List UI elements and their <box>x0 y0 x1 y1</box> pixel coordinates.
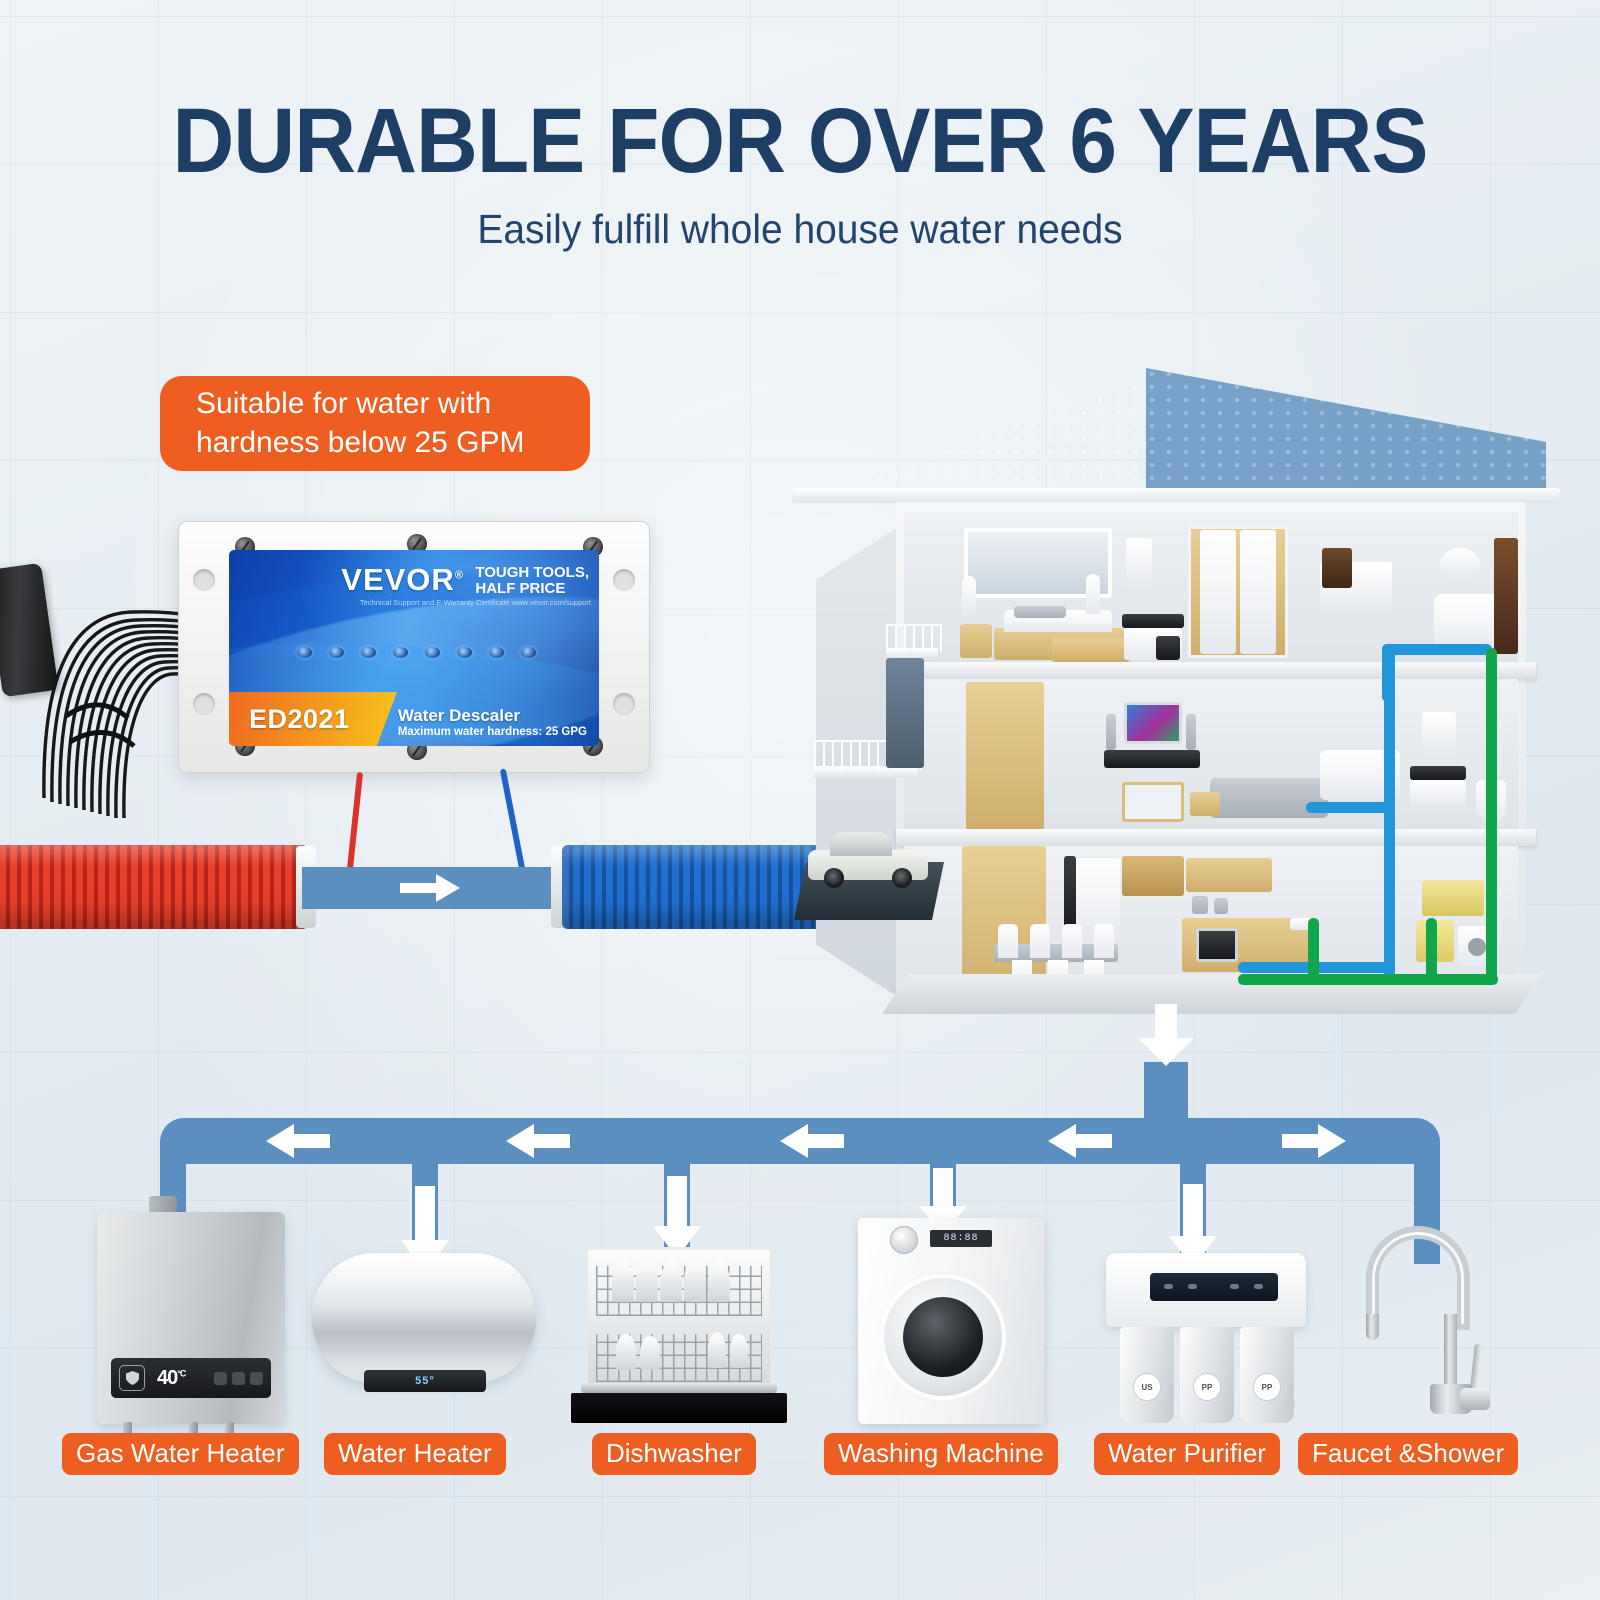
drain-riser <box>1486 648 1497 984</box>
label-faucet-shower: Faucet &Shower <box>1298 1433 1518 1475</box>
flow-arrow-right-icon <box>400 874 460 902</box>
shield-icon <box>119 1365 145 1391</box>
flow-arrow-left-icon <box>780 1124 844 1158</box>
car <box>808 830 928 892</box>
television <box>1124 702 1182 744</box>
label-water-purifier: Water Purifier <box>1094 1433 1280 1475</box>
lamp <box>1086 574 1100 614</box>
oven <box>1196 928 1238 962</box>
appliance-gas-water-heater: 40°C <box>97 1212 285 1424</box>
status-dot <box>1254 1284 1263 1289</box>
upper-cabinet <box>1186 858 1272 892</box>
brand-row: VEVOR® TOUGH TOOLS,HALF PRICE <box>341 562 589 598</box>
balcony-upper-rail <box>886 624 942 652</box>
dishwasher-handle[interactable] <box>581 1383 777 1393</box>
plate <box>708 1262 730 1302</box>
led-indicator <box>361 647 376 658</box>
cold-water-riser <box>1384 644 1395 984</box>
dining-chair <box>1094 924 1114 958</box>
purifier-display <box>1150 1273 1278 1301</box>
laundry-cabinet <box>1422 880 1484 916</box>
led-indicator <box>393 647 408 658</box>
coffee-table <box>1190 792 1220 816</box>
red-wire <box>347 772 363 870</box>
inlet-hose-red <box>0 845 308 929</box>
speaker <box>1186 714 1196 750</box>
faucet-knob[interactable] <box>1460 1388 1490 1410</box>
brand-tagline: TOUGH TOOLS,HALF PRICE <box>475 562 589 597</box>
plate <box>640 1336 660 1370</box>
roof-eave <box>792 488 1560 503</box>
status-dot <box>1230 1284 1239 1289</box>
mount-hole <box>193 569 215 591</box>
appliance-faucet <box>1348 1218 1498 1424</box>
tank-body <box>312 1253 536 1383</box>
lamp <box>962 576 976 616</box>
appliance-water-heater: 55° <box>312 1253 536 1383</box>
product-name: Water Descaler <box>398 706 587 726</box>
pillow <box>1014 606 1066 618</box>
faucet-highlight <box>1372 1232 1464 1324</box>
appliance-dishwasher <box>571 1247 787 1423</box>
toilet-roll <box>1440 548 1480 580</box>
pot <box>1192 896 1208 914</box>
plate <box>660 1262 682 1302</box>
dishwasher-door[interactable] <box>571 1393 787 1423</box>
drain-pipe <box>1426 918 1437 984</box>
washer-door[interactable] <box>880 1274 1006 1400</box>
product-spec: Maximum water hardness: 25 GPG <box>398 726 587 740</box>
label-gas-water-heater: Gas Water Heater <box>62 1433 299 1475</box>
plate <box>708 1332 726 1368</box>
mount-hole <box>613 693 635 715</box>
plate <box>730 1334 748 1368</box>
page-subtitle: Easily fulfill whole house water needs <box>40 206 1560 253</box>
page-title: DURABLE FOR OVER 6 YEARS <box>56 96 1544 186</box>
faucet-spout <box>1366 1314 1379 1340</box>
car-wheel <box>824 868 844 888</box>
dining-chair <box>1030 924 1050 958</box>
outlet-hose-blue <box>562 845 824 929</box>
mount-hole <box>193 693 215 715</box>
device-faceplate: VEVOR® TOUGH TOOLS,HALF PRICE Technical … <box>229 550 599 746</box>
main-supply-drop <box>1144 1062 1188 1120</box>
power-button[interactable] <box>250 1372 263 1385</box>
flow-arrow-left-icon <box>506 1124 570 1158</box>
chest <box>960 624 992 658</box>
blue-wire <box>500 768 526 875</box>
flow-arrow-left-icon <box>1048 1124 1112 1158</box>
dishwasher-tub <box>585 1247 773 1387</box>
stone-facade <box>886 658 924 768</box>
tank-control-panel: 55° <box>364 1370 486 1392</box>
appliance-washing-machine: 88:88 <box>858 1218 1044 1424</box>
car-roof <box>830 832 892 856</box>
cold-water-pipe <box>1382 644 1492 655</box>
washer-control-panel[interactable]: 88:88 <box>864 1224 1038 1254</box>
dining-chair <box>998 924 1018 958</box>
warranty-fine-print: Technical Support and E-Warranty Certifi… <box>360 598 591 607</box>
gas-heater-temperature: 40°C <box>157 1367 185 1390</box>
tile-accent <box>1322 548 1352 588</box>
led-indicator <box>457 647 472 658</box>
flow-arrow-down-icon <box>1138 1004 1194 1066</box>
tv-console <box>1104 750 1200 768</box>
washer-drum <box>903 1297 983 1377</box>
pot <box>1214 898 1228 914</box>
vevor-logo: VEVOR® <box>341 562 464 598</box>
mount-hole <box>613 569 635 591</box>
status-dot <box>1188 1284 1197 1289</box>
plate <box>684 1260 706 1302</box>
mirror <box>1422 712 1456 756</box>
label-water-heater: Water Heater <box>324 1433 506 1475</box>
label-dishwasher: Dishwasher <box>592 1433 756 1475</box>
status-dot <box>1164 1284 1173 1289</box>
gas-heater-buttons[interactable] <box>214 1372 263 1385</box>
plate <box>616 1334 636 1370</box>
purifier-head-unit <box>1106 1253 1306 1327</box>
flow-arrow-down-icon <box>653 1176 701 1258</box>
vanity-counter <box>1410 766 1466 780</box>
car-wheel <box>892 868 912 888</box>
vanity-cabinet <box>1410 780 1466 806</box>
hardness-callout-badge: Suitable for water with hardness below 2… <box>160 376 590 471</box>
faucet-column <box>1444 1314 1457 1390</box>
led-indicator <box>521 647 536 658</box>
mirror <box>1126 538 1152 590</box>
product-info: Water Descaler Maximum water hardness: 2… <box>398 706 587 740</box>
flow-arrow-left-icon <box>266 1124 330 1158</box>
filter-cartridge: PP <box>1240 1327 1294 1423</box>
wardrobe-door <box>1240 530 1276 654</box>
led-indicator <box>329 647 344 658</box>
plate <box>612 1262 634 1302</box>
model-number: ED2021 <box>229 704 350 735</box>
drain-main <box>1238 974 1498 985</box>
plate <box>636 1260 658 1302</box>
tank-display: 55° <box>415 1375 435 1387</box>
cold-water-branch <box>1306 802 1394 813</box>
desk <box>1122 614 1184 628</box>
led-indicator <box>425 647 440 658</box>
water-descaler-device[interactable]: VEVOR® TOUGH TOOLS,HALF PRICE Technical … <box>178 521 650 773</box>
filter-label: PP <box>1193 1373 1221 1401</box>
roof-right <box>1146 368 1546 500</box>
label-washing-machine: Washing Machine <box>824 1433 1058 1475</box>
bench <box>1052 638 1130 662</box>
wood-wall-panel <box>966 682 1044 830</box>
stool <box>1156 636 1180 660</box>
armchair <box>1122 782 1184 822</box>
house-cutaway-illustration <box>786 362 1572 1062</box>
floor-slab-middle <box>896 829 1536 846</box>
filter-cartridge: US <box>1120 1327 1174 1423</box>
upper-cabinet <box>1122 856 1184 896</box>
temp-up-button[interactable] <box>214 1372 227 1385</box>
model-tag: ED2021 <box>229 692 397 746</box>
mosaic-wall <box>1494 538 1518 654</box>
filter-label: US <box>1133 1373 1161 1401</box>
floor-slab-upper <box>896 662 1536 679</box>
washer-door <box>1468 938 1486 956</box>
speaker <box>1106 714 1116 750</box>
appliance-water-purifier: US PP PP <box>1098 1253 1316 1423</box>
dining-chair <box>1062 924 1082 958</box>
washer-display: 88:88 <box>930 1230 992 1247</box>
flow-arrow-right-icon <box>1282 1124 1346 1158</box>
program-dial[interactable] <box>890 1226 918 1254</box>
led-indicator <box>297 647 312 658</box>
led-indicator <box>489 647 504 658</box>
temp-down-button[interactable] <box>232 1372 245 1385</box>
gas-heater-control-panel: 40°C <box>111 1358 271 1398</box>
filter-cartridge: PP <box>1180 1327 1234 1423</box>
led-indicator-row <box>297 647 536 658</box>
filter-label: PP <box>1253 1373 1281 1401</box>
wardrobe-door <box>1200 530 1236 654</box>
